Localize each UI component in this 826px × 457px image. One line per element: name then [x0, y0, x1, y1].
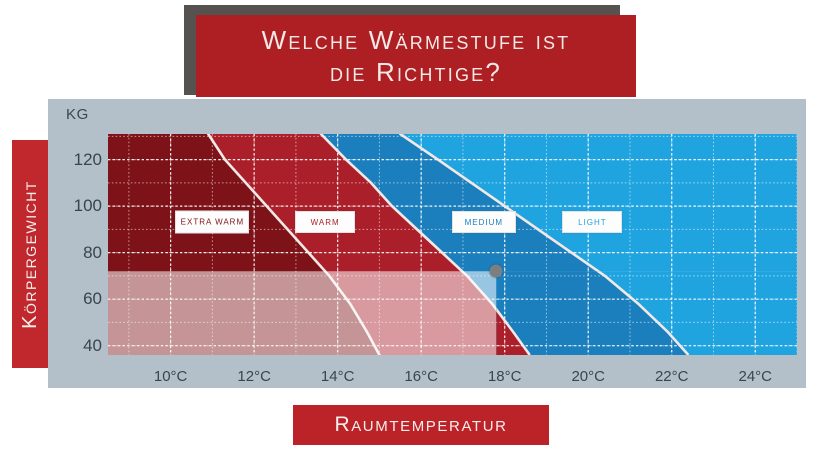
selection-marker[interactable]: [490, 265, 503, 278]
x-tick-label: 10°C: [154, 368, 188, 385]
y-axis-title-box: Körpergewicht: [12, 140, 48, 368]
x-axis-title: Raumtemperatur: [334, 413, 507, 437]
zone-label-light[interactable]: LIGHT: [562, 211, 622, 233]
zone-label-warm[interactable]: WARM: [295, 211, 355, 233]
y-tick-label: 100: [60, 196, 102, 216]
title-banner: Welche Wärmestufe ist die Richtige?: [196, 15, 636, 97]
y-axis-unit-caption: KG: [66, 106, 89, 123]
y-axis-ticks: 120100806040: [56, 134, 102, 355]
page-title-line-1: Welche Wärmestufe ist: [262, 25, 571, 55]
x-tick-label: 18°C: [488, 368, 522, 385]
x-tick-label: 12°C: [237, 368, 271, 385]
zone-label-medium[interactable]: MEDIUM: [452, 211, 516, 233]
page-title-line-2: die Richtige?: [330, 57, 502, 87]
x-tick-label: 16°C: [404, 368, 438, 385]
thermal-comfort-chart[interactable]: [108, 134, 797, 355]
x-axis-ticks: 10°C12°C14°C16°C18°C20°C22°C24°C: [108, 368, 797, 390]
y-axis-title: Körpergewicht: [19, 180, 42, 329]
y-tick-label: 60: [60, 289, 102, 309]
chart-canvas: [108, 134, 797, 355]
y-tick-label: 120: [60, 150, 102, 170]
page-title: Welche Wärmestufe ist die Richtige?: [262, 24, 571, 89]
y-tick-label: 40: [60, 336, 102, 356]
x-tick-label: 22°C: [655, 368, 689, 385]
x-tick-label: 20°C: [571, 368, 605, 385]
zone-label-extra-warm[interactable]: EXTRA WARM: [175, 211, 249, 234]
x-tick-label: 14°C: [321, 368, 355, 385]
x-tick-label: 24°C: [738, 368, 772, 385]
y-tick-label: 80: [60, 243, 102, 263]
x-axis-title-box: Raumtemperatur: [293, 405, 549, 445]
